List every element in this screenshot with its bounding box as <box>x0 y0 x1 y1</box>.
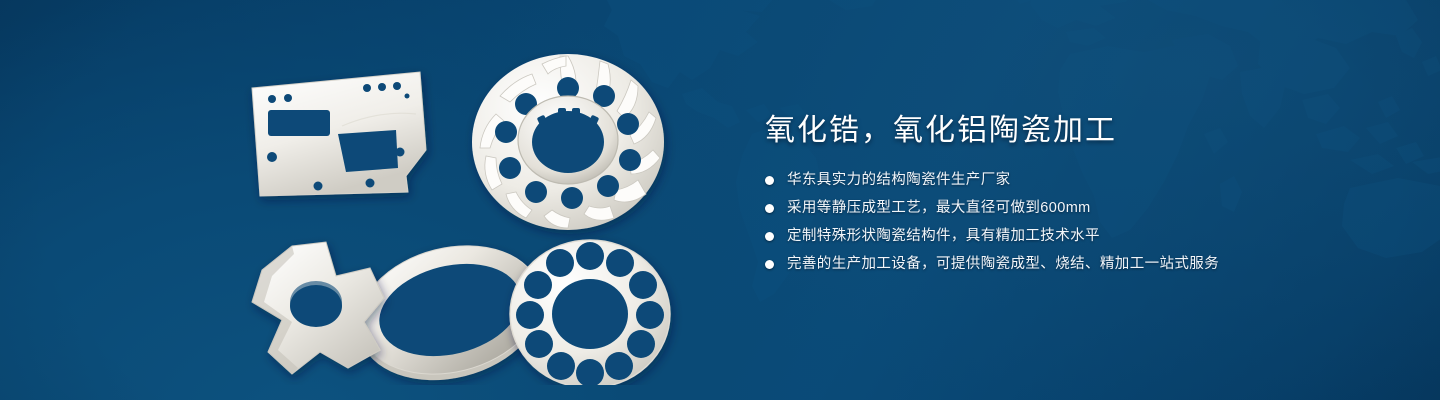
ceramic-cross-plate <box>252 242 384 374</box>
bullet-dot-icon <box>765 204 774 213</box>
ceramic-perforated-disc <box>510 240 670 385</box>
ceramic-products-image <box>230 30 700 385</box>
feature-list: 华东具实力的结构陶瓷件生产厂家 采用等静压成型工艺，最大直径可做到600mm 定… <box>765 170 1385 275</box>
ceramic-impeller-disc <box>472 54 664 230</box>
list-item: 完善的生产加工设备，可提供陶瓷成型、烧结、精加工一站式服务 <box>765 254 1385 275</box>
ceramic-flat-plate <box>252 72 426 196</box>
hero-banner: 氧化锆，氧化铝陶瓷加工 华东具实力的结构陶瓷件生产厂家 采用等静压成型工艺，最大… <box>0 0 1440 400</box>
bullet-dot-icon <box>765 176 774 185</box>
list-item-label: 华东具实力的结构陶瓷件生产厂家 <box>787 170 1011 191</box>
list-item: 定制特殊形状陶瓷结构件，具有精加工技术水平 <box>765 226 1385 247</box>
list-item: 采用等静压成型工艺，最大直径可做到600mm <box>765 198 1385 219</box>
list-item: 华东具实力的结构陶瓷件生产厂家 <box>765 170 1385 191</box>
bullet-dot-icon <box>765 260 774 269</box>
list-item-label: 完善的生产加工设备，可提供陶瓷成型、烧结、精加工一站式服务 <box>787 254 1219 275</box>
list-item-label: 采用等静压成型工艺，最大直径可做到600mm <box>787 198 1091 219</box>
bullet-dot-icon <box>765 232 774 241</box>
list-item-label: 定制特殊形状陶瓷结构件，具有精加工技术水平 <box>787 226 1100 247</box>
page-title: 氧化锆，氧化铝陶瓷加工 <box>765 112 1385 150</box>
banner-copy: 氧化锆，氧化铝陶瓷加工 华东具实力的结构陶瓷件生产厂家 采用等静压成型工艺，最大… <box>765 112 1385 282</box>
